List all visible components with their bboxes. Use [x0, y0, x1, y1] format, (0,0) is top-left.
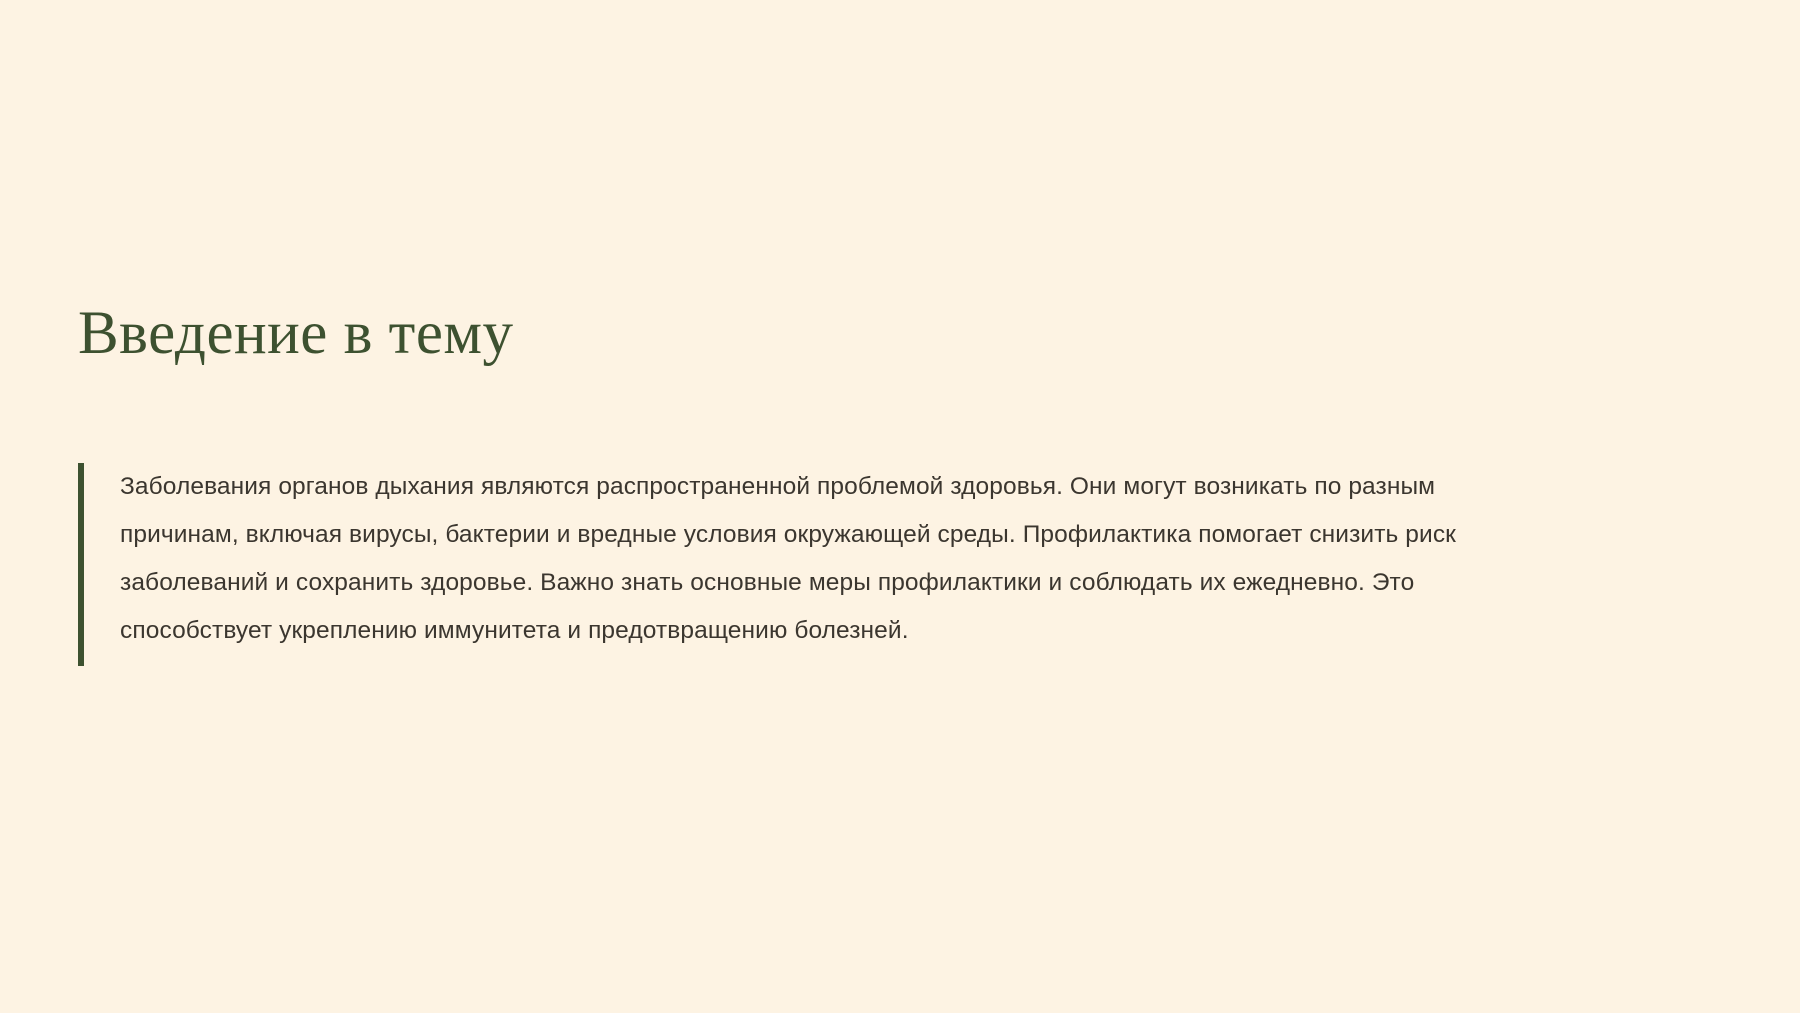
page-title: Введение в тему: [78, 300, 514, 368]
body-paragraph: Заболевания органов дыхания являются рас…: [120, 463, 1502, 655]
body-text-container: Заболевания органов дыхания являются рас…: [84, 463, 1718, 666]
body-block: Заболевания органов дыхания являются рас…: [78, 463, 1718, 666]
slide-canvas: Введение в тему Заболевания органов дыха…: [0, 0, 1800, 1013]
